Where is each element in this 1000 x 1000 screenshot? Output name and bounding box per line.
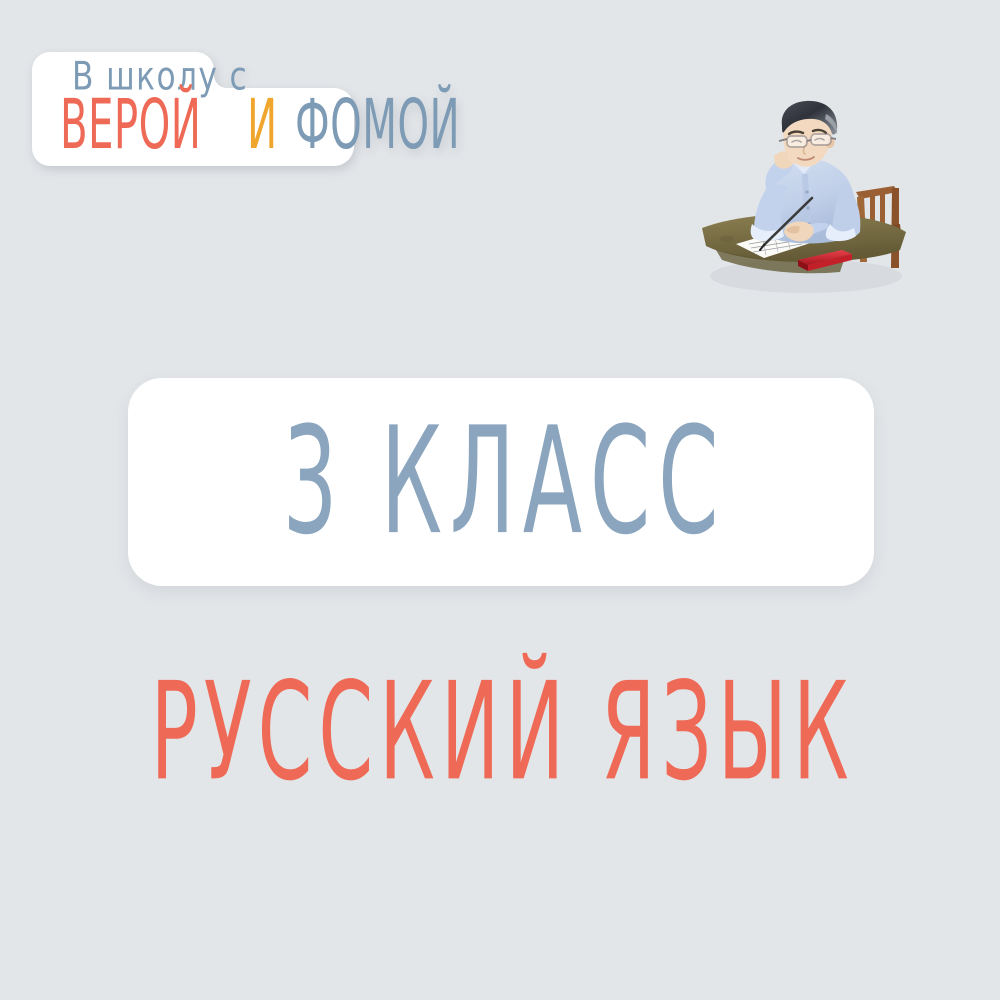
- sticker-word-i: И: [247, 92, 278, 160]
- grade-card-label: 3 КЛАСС: [275, 408, 727, 556]
- small-eraser: [720, 236, 734, 242]
- subject-title: РУССКИЙ ЯЗЫК: [0, 664, 1000, 768]
- sticker-line-bottom: ВЕРОЙ И ФОМОЙ: [60, 90, 360, 160]
- brand-sticker[interactable]: В школу с ВЕРОЙ И ФОМОЙ: [28, 48, 358, 170]
- subject-title-text: РУССКИЙ ЯЗЫК: [145, 664, 855, 799]
- grade-card[interactable]: 3 КЛАСС: [128, 378, 874, 586]
- sticker-word-veroy: ВЕРОЙ: [60, 92, 201, 160]
- poster-canvas: В школу с ВЕРОЙ И ФОМОЙ: [0, 0, 1000, 1000]
- teacher-at-desk-illustration: [694, 100, 914, 300]
- sticker-word-fomoy: ФОМОЙ: [295, 92, 460, 160]
